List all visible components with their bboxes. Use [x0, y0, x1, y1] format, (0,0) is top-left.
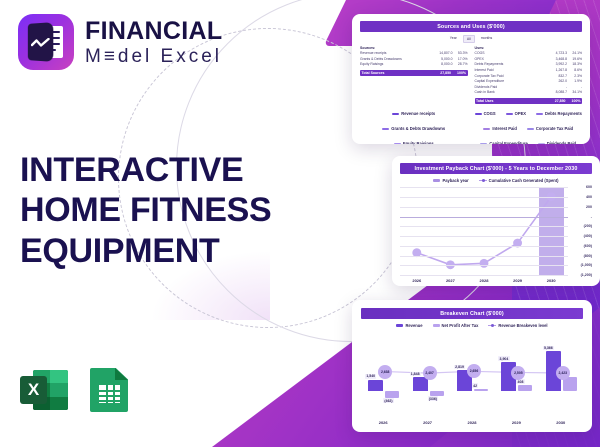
x-tick-label: 2026	[379, 420, 388, 425]
y-tick-label: (800)	[584, 254, 592, 258]
brand-name-secondary: M≡del Excel	[85, 47, 222, 66]
sources-total-pct: 100%	[451, 71, 466, 75]
revenue-label: 3,904	[498, 356, 509, 361]
breakeven-columns: 1,540(462)2,6381,848(336)2,4072,819422,6…	[361, 333, 583, 417]
gridline	[400, 187, 568, 188]
payback-line-series	[400, 187, 568, 274]
row-label: Equity Raisings	[360, 62, 431, 68]
promo-graphic: FINANCIAL M≡del Excel Interactive Home F…	[0, 0, 600, 447]
brand-lockup: FINANCIAL M≡del Excel	[18, 14, 222, 70]
breakeven-title: Breakeven Chart ($'000)	[361, 308, 583, 319]
legend-item: COGS	[475, 111, 496, 116]
y-tick-label: (200)	[584, 224, 592, 228]
revenue-label: 1,848	[410, 372, 421, 377]
uses-table: Uses: COGS4,723.324.1%OPEX3,468.819.6%De…	[475, 46, 583, 104]
sources-uses-card[interactable]: Sources and Uses ($'000) Year All months…	[352, 14, 590, 144]
uses-total-label: Total Uses	[476, 99, 544, 103]
legend-item: Equity Raisings	[394, 141, 434, 144]
payback-card[interactable]: Investment Payback Chart ($'000) - 5 Yea…	[392, 156, 600, 286]
sources-uses-bar-charts: Revenue receiptsGrants & Debts Drawdowns…	[360, 107, 582, 144]
toggle-value[interactable]: All	[463, 35, 475, 43]
sources-uses-toggle[interactable]: Year All months	[360, 35, 582, 43]
legend-payback-year: Payback year	[433, 178, 468, 183]
file-format-icons: X	[20, 366, 130, 414]
y-tick-label: 600	[586, 185, 592, 189]
gridline	[400, 197, 568, 198]
y-tick-label: (1,000)	[581, 263, 592, 267]
excel-icon: X	[20, 366, 68, 414]
x-tick-label: 2028	[468, 420, 477, 425]
breakeven-column: 2,819422,656	[453, 333, 491, 417]
uses-header: Uses:	[475, 46, 583, 50]
net-profit-label: 42	[472, 383, 478, 388]
gridline	[400, 275, 568, 276]
x-tick-label: 2030	[547, 278, 556, 283]
chart-document-icon	[18, 14, 74, 70]
uses-legend: COGSOPEXDebts RepaymentsInterest PaidCor…	[475, 111, 583, 144]
uses-total-value: 27,850	[544, 99, 566, 103]
revenue-label: 5,366	[543, 346, 554, 351]
sources-total-value: 27,850	[429, 71, 451, 75]
revenue-bar	[413, 377, 428, 391]
revenue-bar	[368, 380, 383, 391]
x-tick-label: 2029	[513, 278, 522, 283]
revenue-label: 2,819	[454, 365, 465, 370]
gridline	[400, 207, 568, 208]
row-value: 8,088.7	[545, 90, 567, 96]
payback-x-axis: 20262027202820292030	[400, 278, 592, 283]
gridline	[400, 217, 568, 218]
y-tick-label: (1,200)	[581, 273, 592, 277]
breakeven-column: 5,3669722,423	[542, 333, 580, 417]
payback-gridlines	[400, 187, 568, 275]
excel-x-letter: X	[20, 376, 47, 404]
row-percent: 28.7%	[453, 62, 468, 68]
gridline	[400, 256, 568, 257]
gridline	[400, 226, 568, 227]
y-tick-label: (400)	[584, 234, 592, 238]
breakeven-x-axis: 20262027202820292030	[361, 420, 583, 425]
legend-revenue: Revenue	[396, 323, 422, 328]
sources-uses-title: Sources and Uses ($'000)	[360, 21, 582, 32]
sources-uses-tables: Sources: Revenue receipts14,807.053.3%Gr…	[360, 46, 582, 104]
breakeven-bubble: 2,505	[511, 366, 525, 380]
toggle-right-label: months	[478, 35, 495, 43]
x-tick-label: 2028	[480, 278, 489, 283]
breakeven-bubble: 2,656	[467, 364, 481, 378]
payback-legend: Payback year Cumulative Cash Generated (…	[400, 178, 592, 183]
net-profit-bar	[518, 385, 532, 391]
payback-title: Investment Payback Chart ($'000) - 5 Yea…	[400, 163, 592, 174]
net-profit-label: (336)	[428, 396, 439, 401]
net-profit-label: 408	[516, 379, 524, 384]
breakeven-column: 1,540(462)2,638	[364, 333, 402, 417]
breakeven-column: 1,848(336)2,407	[409, 333, 447, 417]
sources-legend: Revenue receiptsGrants & Debts Drawdowns…	[360, 111, 468, 144]
squiggle-line-icon	[31, 38, 50, 48]
legend-item: OPEX	[506, 111, 526, 116]
brand-name-primary: FINANCIAL	[85, 19, 222, 44]
sources-header: Sources:	[360, 46, 468, 50]
sources-total-label: Total Sources	[362, 71, 430, 75]
uses-total-row: Total Uses 27,850 100%	[475, 98, 583, 104]
breakeven-bubble: 2,407	[423, 366, 437, 380]
breakeven-bubble: 2,423	[556, 366, 570, 380]
table-row: Equity Raisings8,000.028.7%	[360, 62, 468, 68]
legend-cumulative-cash: Cumulative Cash Generated (Spent)	[479, 178, 559, 183]
sources-table: Sources: Revenue receipts14,807.053.3%Gr…	[360, 46, 468, 104]
x-tick-label: 2027	[446, 278, 455, 283]
payback-y-axis: 600400200-(200)(400)(600)(800)(1,000)(1,…	[568, 187, 592, 275]
breakeven-plot: 1,540(462)2,6381,848(336)2,4072,819422,6…	[361, 333, 583, 417]
net-profit-label: (462)	[383, 398, 394, 403]
payback-plot: 600400200-(200)(400)(600)(800)(1,000)(1,…	[400, 187, 592, 275]
breakeven-legend: Revenue Net Profit After Tax Revenue Bre…	[361, 323, 583, 328]
revenue-label: 1,540	[365, 374, 376, 379]
net-profit-bar	[474, 389, 488, 391]
y-tick-label: -	[591, 215, 592, 219]
legend-item: Debts Repayments	[536, 111, 582, 116]
gridline	[400, 236, 568, 237]
breakeven-card[interactable]: Breakeven Chart ($'000) Revenue Net Prof…	[352, 300, 592, 432]
row-value: 8,000.0	[431, 62, 453, 68]
legend-item: Grants & Debts Drawdowns	[382, 126, 445, 131]
x-tick-label: 2027	[423, 420, 432, 425]
page-title: Interactive Home Fitness Equipment	[20, 150, 320, 271]
legend-item: Corporate Tax Paid	[527, 126, 573, 131]
uses-total-pct: 100%	[566, 99, 581, 103]
breakeven-bubble: 2,638	[378, 365, 392, 379]
sources-total-row: Total Sources 27,850 100%	[360, 70, 468, 76]
row-percent: 34.1%	[567, 90, 582, 96]
x-tick-label: 2026	[412, 278, 421, 283]
toggle-left-label: Year	[447, 35, 460, 43]
row-label: Cash in Bank	[475, 90, 546, 96]
legend-item: Revenue receipts	[392, 111, 435, 116]
legend-item: Interest Paid	[483, 126, 517, 131]
google-sheets-icon	[90, 366, 130, 414]
x-tick-label: 2029	[512, 420, 521, 425]
legend-net-profit: Net Profit After Tax	[433, 323, 479, 328]
y-tick-label: (600)	[584, 244, 592, 248]
gridline	[400, 265, 568, 266]
legend-breakeven-level: Revenue Breakeven level	[488, 323, 547, 328]
gridline	[400, 246, 568, 247]
y-tick-label: 200	[586, 205, 592, 209]
legend-item: Capital Expenditure	[480, 141, 527, 144]
x-tick-label: 2030	[556, 420, 565, 425]
table-row: Cash in Bank8,088.734.1%	[475, 90, 583, 96]
breakeven-column: 3,9044082,505	[497, 333, 535, 417]
y-tick-label: 400	[586, 195, 592, 199]
net-profit-bar	[385, 391, 399, 398]
legend-item: Dividends Paid	[538, 141, 576, 144]
